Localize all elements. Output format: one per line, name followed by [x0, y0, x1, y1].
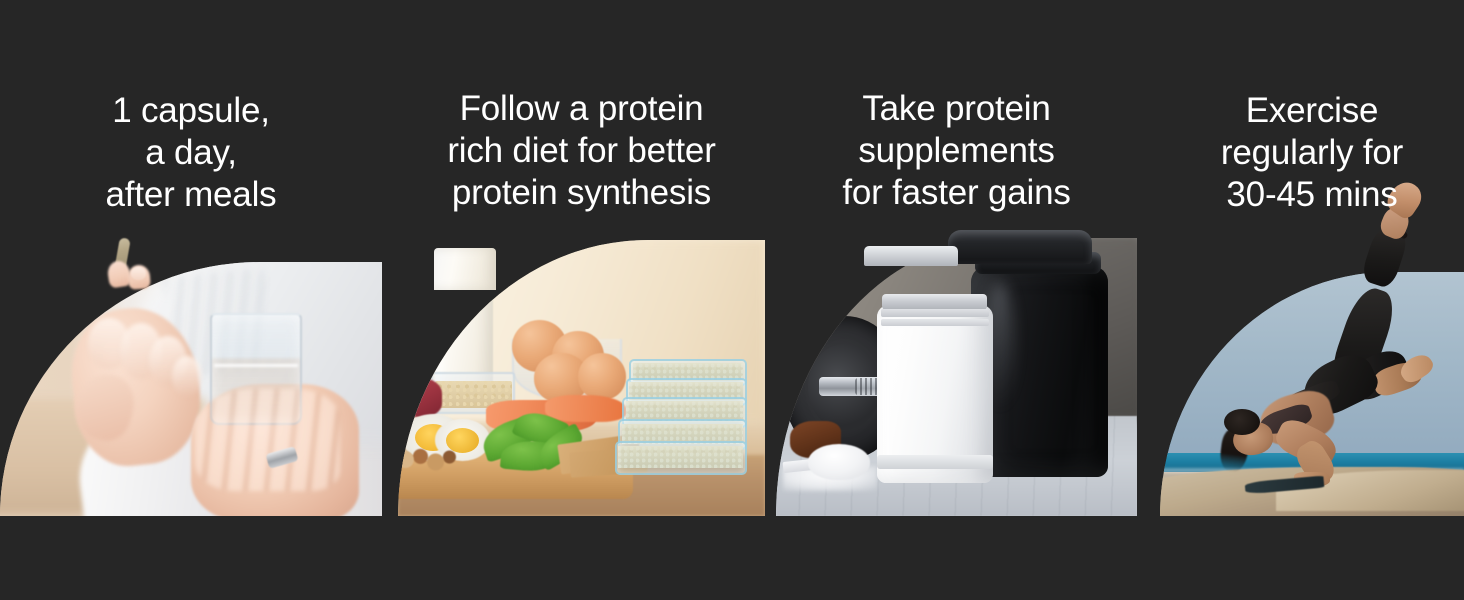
water-line: [214, 364, 298, 367]
white-tub-ring-2: [881, 319, 989, 326]
benefit-panel-2: Follow a protein rich diet for better pr…: [398, 0, 765, 600]
raised-foot: [1383, 177, 1427, 222]
black-tub-lid-body: [975, 252, 1101, 274]
benefit-panel-4: Exercise regularly for 30-45 mins: [1160, 0, 1464, 600]
white-tub-lid: [882, 294, 987, 311]
product-usage-banner: 1 capsule, a day, after meals: [0, 0, 1464, 600]
milk-surface: [435, 261, 494, 271]
raised-ankle: [1377, 204, 1412, 242]
panel-row: 1 capsule, a day, after meals: [0, 0, 1464, 600]
ankle-band: [1382, 223, 1409, 239]
salmon-fillet-2: [545, 395, 626, 423]
panel-4-photo: [1160, 272, 1464, 516]
panel-3-photo: [776, 238, 1137, 516]
panel-4-caption: Exercise regularly for 30-45 mins: [1160, 90, 1464, 216]
protein-scoop: [808, 444, 869, 480]
panel-3-caption: Take protein supplements for faster gain…: [776, 88, 1137, 214]
panel-gap-3: [1137, 0, 1160, 600]
supplement-tubs-scene: [776, 238, 1137, 516]
raised-leg-overflow-art: [1356, 176, 1428, 280]
white-tub-base: [877, 455, 993, 469]
knuckle-4: [172, 356, 203, 397]
panel-gap-2: [765, 0, 776, 600]
panel-1-photo: [0, 262, 382, 516]
benefit-panel-1: 1 capsule, a day, after meals: [0, 0, 382, 600]
red-meat: [398, 378, 442, 417]
egg-4: [578, 353, 626, 400]
beach-yoga-scene: [1160, 272, 1464, 516]
protein-foods-scene: [398, 240, 765, 516]
right-hand-fingers: [195, 389, 340, 491]
panel-gap-1: [382, 0, 398, 600]
mixed-nuts: [398, 444, 457, 474]
capsule-and-water-scene: [0, 262, 382, 516]
panel-1-caption: 1 capsule, a day, after meals: [0, 90, 382, 216]
benefit-panel-3: Take protein supplements for faster gain…: [776, 0, 1137, 600]
white-tub-ring-1: [881, 309, 989, 317]
panel-2-photo: [398, 240, 765, 516]
glass-tray-5: [615, 441, 747, 474]
panel-2-caption: Follow a protein rich diet for better pr…: [398, 88, 765, 214]
